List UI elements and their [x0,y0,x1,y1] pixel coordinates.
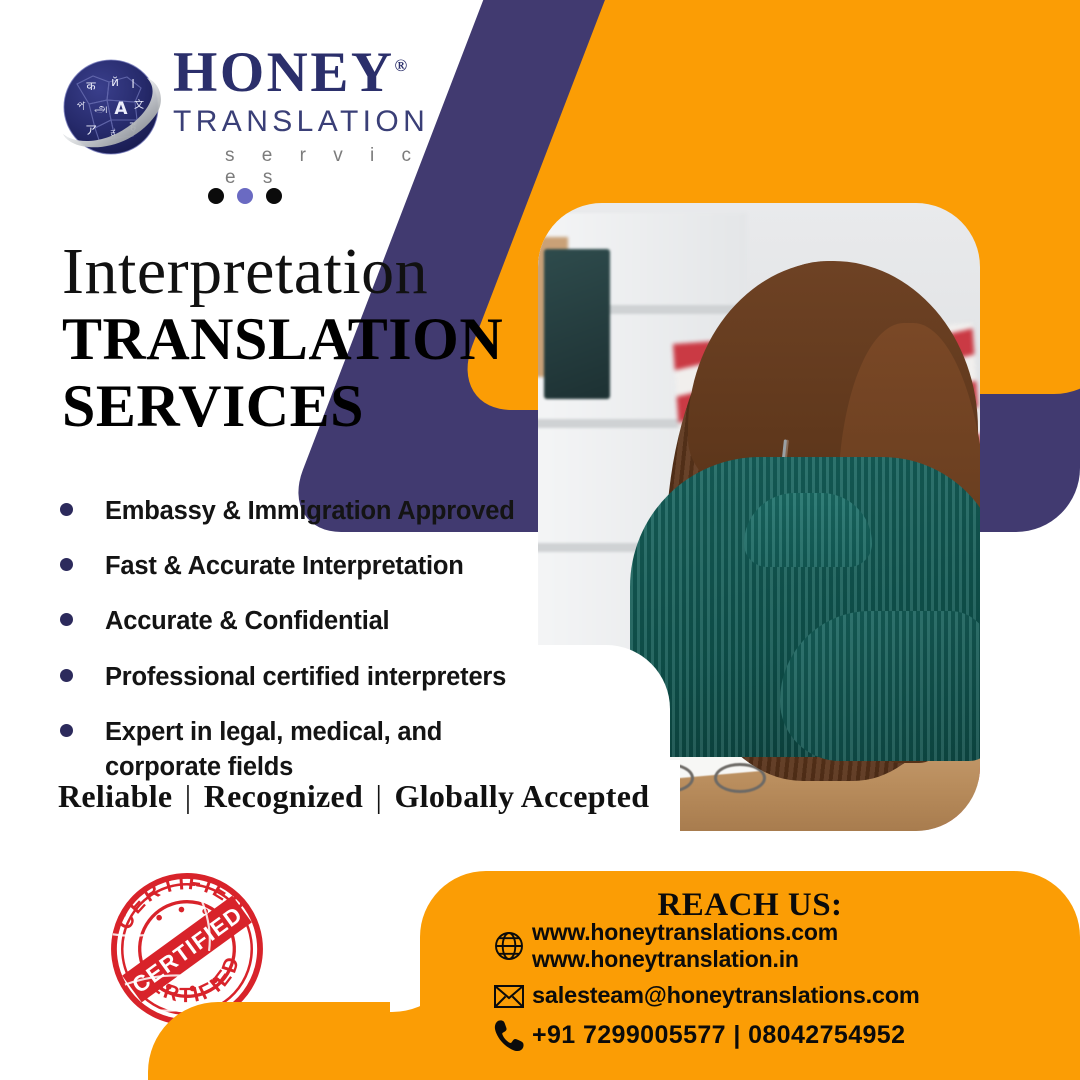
phone-icon [486,1018,532,1054]
website-1[interactable]: www.honeytranslations.com [532,919,838,945]
dot-black-right [266,188,282,204]
globe-icon [486,929,532,963]
bullet-dot [60,669,73,682]
arm [780,611,980,761]
tagline-separator-1: | [181,778,196,814]
website-2[interactable]: www.honeytranslation.in [532,946,799,972]
contact-panel: REACH US: www.honeytranslations.com www.… [420,871,1080,1080]
page-title-line2: SERVICES [62,373,503,440]
svg-text:क: क [86,79,96,93]
svg-text:A: A [114,99,128,119]
brand-line-2: TRANSLATION [173,105,429,139]
list-item: Professional certified interpreters [52,660,522,695]
list-item: Expert in legal, medical, and corporate … [52,715,522,785]
registered-mark: ® [395,56,408,75]
brand-logo: कйا পஅ A 文 アಕह HONEY® TRANSLATION s e r … [55,48,415,173]
contact-row-website[interactable]: www.honeytranslations.com www.honeytrans… [486,919,1066,974]
page-title-bold: TRANSLATION SERVICES [62,306,503,440]
envelope-icon [486,981,532,1011]
list-item-label: Fast & Accurate Interpretation [105,549,464,584]
sweater-collar [744,493,872,567]
bullet-dot [60,558,73,571]
list-item-label: Professional certified interpreters [105,660,506,695]
tagline: Reliable | Recognized | Globally Accepte… [58,778,649,815]
phone-value[interactable]: +91 7299005577 | 08042754952 [532,1021,905,1051]
tagline-separator-2: | [371,778,386,814]
poster-canvas: कйا পஅ A 文 アಕह HONEY® TRANSLATION s e r … [0,0,1080,1080]
list-item-label: Expert in legal, medical, and corporate … [105,715,445,785]
list-item: Embassy & Immigration Approved [52,494,522,529]
contact-row-email[interactable]: salesteam@honeytranslations.com [486,981,1066,1011]
svg-text:அ: அ [94,101,107,115]
tagline-part-3: Globally Accepted [394,778,649,814]
contact-row-phone[interactable]: +91 7299005577 | 08042754952 [486,1018,1066,1054]
dot-black-left [208,188,224,204]
svg-text:й: й [111,75,119,89]
dot-purple [237,188,253,204]
shelf-dark-panel [544,249,610,399]
bullet-dot [60,724,73,737]
list-item: Accurate & Confidential [52,604,522,639]
brand-line-3: s e r v i c e s [173,145,429,189]
brand-name: HONEY® [173,44,429,101]
list-item: Fast & Accurate Interpretation [52,549,522,584]
bullet-dot [60,613,73,626]
page-title-script: Interpretation [62,234,428,310]
list-item-label: Accurate & Confidential [105,604,389,639]
svg-text:প: প [77,99,86,113]
tagline-part-1: Reliable [58,778,172,814]
email-value[interactable]: salesteam@honeytranslations.com [532,982,920,1010]
decor-dots [208,188,282,204]
svg-text:ア: ア [85,123,97,137]
page-title-line1: TRANSLATION [62,306,503,373]
globe-languages-icon: कйا পஅ A 文 アಕह [55,50,167,162]
feature-list: Embassy & Immigration Approved Fast & Ac… [52,494,522,805]
svg-text:ا: ا [131,77,134,91]
tagline-part-2: Recognized [204,778,363,814]
svg-text:文: 文 [134,98,144,111]
list-item-label: Embassy & Immigration Approved [105,494,515,529]
bullet-dot [60,503,73,516]
website-values: www.honeytranslations.com www.honeytrans… [532,919,838,974]
